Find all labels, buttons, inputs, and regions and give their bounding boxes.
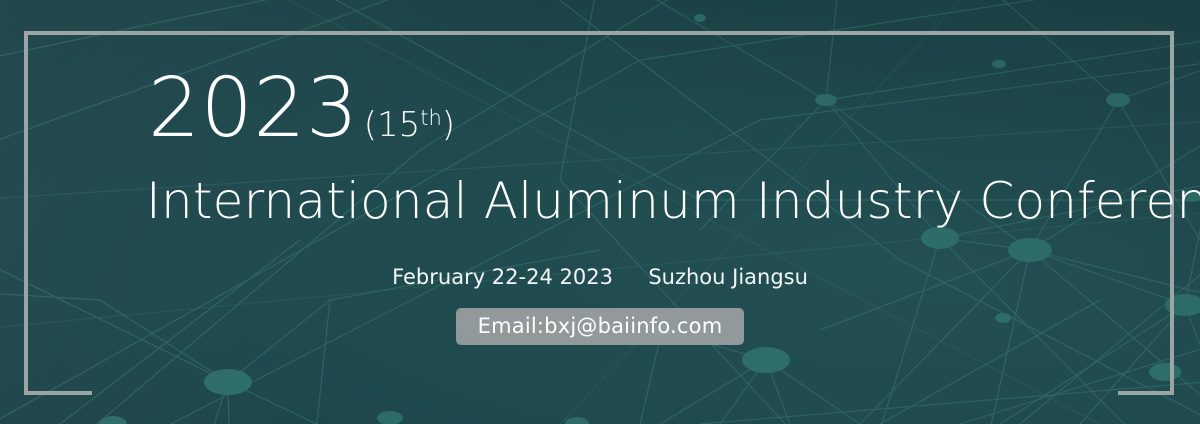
- email-badge[interactable]: Email:bxj@baiinfo.com: [456, 308, 745, 345]
- edition-ordinal-suffix: th: [420, 106, 442, 130]
- edition-label: (15th): [364, 108, 455, 142]
- banner-content: 2023 (15th) International Aluminum Indus…: [0, 0, 1200, 424]
- page-title: International Aluminum Industry Conferen…: [146, 172, 1200, 230]
- event-meta-row: February 22-24 2023 Suzhou Jiangsu: [0, 264, 1200, 290]
- event-date: February 22-24 2023: [392, 265, 613, 289]
- conference-banner: 2023 (15th) International Aluminum Indus…: [0, 0, 1200, 424]
- contact-email-row: Email:bxj@baiinfo.com: [0, 308, 1200, 345]
- year-number: 2023: [148, 68, 359, 150]
- event-location: Suzhou Jiangsu: [648, 265, 808, 289]
- edition-close-paren: ): [442, 105, 455, 145]
- year-heading: 2023 (15th): [148, 68, 455, 150]
- edition-open-paren: (15: [364, 105, 421, 145]
